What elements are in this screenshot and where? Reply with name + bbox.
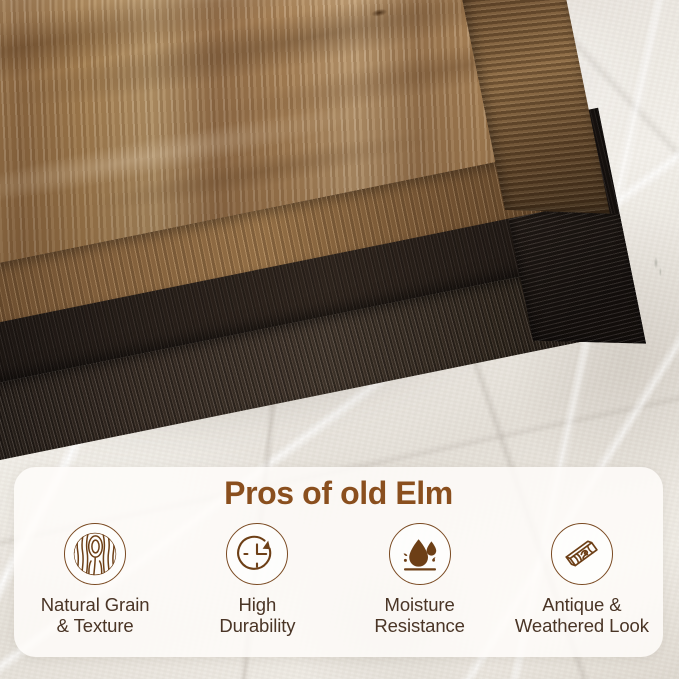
feature-label: Natural Grain & Texture [41, 594, 150, 636]
feature-antique-weathered: Antique & Weathered Look [501, 523, 663, 636]
feature-label: Antique & Weathered Look [515, 594, 649, 636]
wood-grain-icon [64, 523, 126, 585]
feature-list: Natural Grain & Texture High Durability [14, 523, 663, 636]
feature-label: Moisture Resistance [374, 594, 465, 636]
feature-label: High Durability [219, 594, 295, 636]
banner-title: Pros of old Elm [14, 475, 663, 512]
debris-speck [648, 254, 668, 284]
water-droplet-icon [389, 523, 451, 585]
feature-moisture-resistance: Moisture Resistance [339, 523, 501, 636]
clock-rotate-icon [226, 523, 288, 585]
feature-high-durability: High Durability [176, 523, 338, 636]
product-image: Pros of old Elm [0, 0, 679, 679]
wood-plank-icon [551, 523, 613, 585]
feature-banner: Pros of old Elm [14, 467, 663, 657]
feature-natural-grain: Natural Grain & Texture [14, 523, 176, 636]
